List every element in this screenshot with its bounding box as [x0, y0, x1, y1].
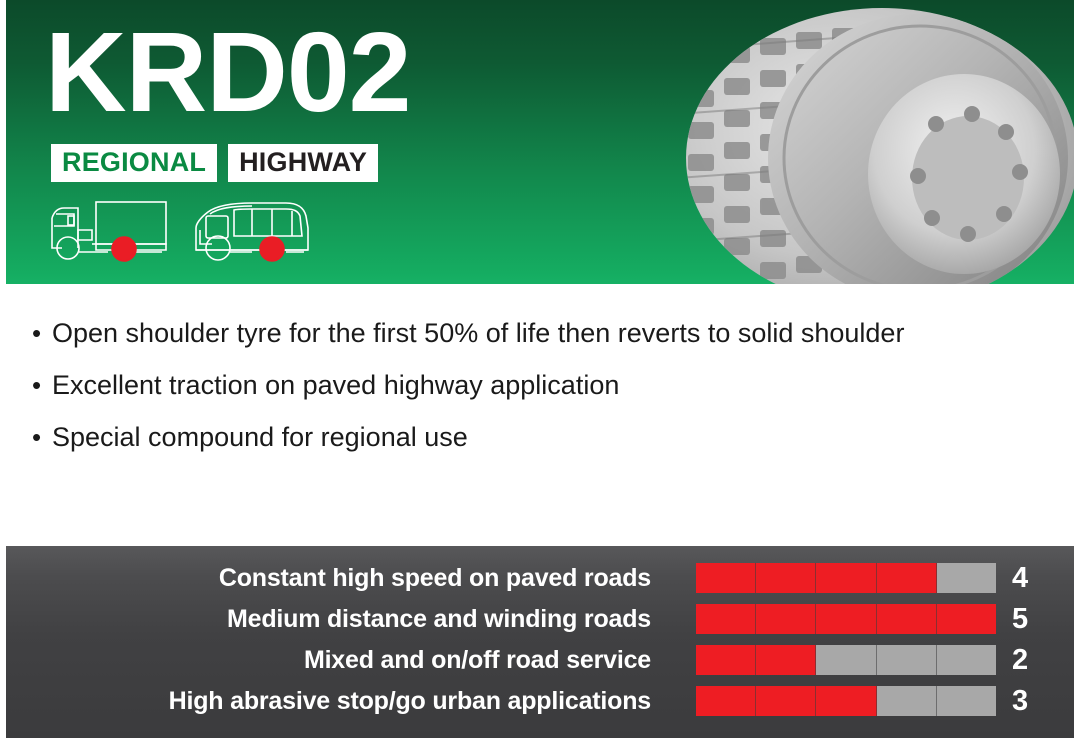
rating-value: 4	[1012, 564, 1028, 593]
bar-segment	[816, 645, 876, 675]
rating-row: Constant high speed on paved roads 4	[6, 563, 1074, 593]
rating-label: High abrasive stop/go urban applications	[6, 687, 651, 716]
product-spec-sheet: KRD 02 KRD02 REGIONAL	[0, 0, 1074, 738]
bar-segment	[937, 563, 996, 593]
rating-value: 2	[1012, 646, 1028, 675]
badge-regional: REGIONAL	[51, 144, 217, 182]
application-ratings-panel: Constant high speed on paved roads 4 Med…	[6, 546, 1074, 738]
feature-text: Special compound for regional use	[52, 422, 1074, 454]
feature-list: • Open shoulder tyre for the first 50% o…	[6, 284, 1074, 546]
bar-segment	[877, 563, 937, 593]
tire-product-photo: KRD 02	[668, 6, 1074, 284]
bar-segment	[756, 645, 816, 675]
vehicle-application-icons	[48, 200, 312, 271]
rating-label: Medium distance and winding roads	[6, 605, 651, 634]
rating-value: 3	[1012, 687, 1028, 716]
feature-item: • Excellent traction on paved highway ap…	[32, 370, 1074, 402]
bus-icon	[190, 200, 312, 271]
rating-label: Constant high speed on paved roads	[6, 564, 651, 593]
feature-item: • Special compound for regional use	[32, 422, 1074, 454]
rating-row: High abrasive stop/go urban applications…	[6, 686, 1074, 716]
rating-value: 5	[1012, 605, 1028, 634]
bar-segment	[696, 563, 756, 593]
rating-label: Mixed and on/off road service	[6, 646, 651, 675]
feature-item: • Open shoulder tyre for the first 50% o…	[32, 318, 1074, 350]
bullet-icon: •	[32, 318, 52, 349]
bar-segment	[756, 686, 816, 716]
bullet-icon: •	[32, 370, 52, 401]
bar-segment	[877, 686, 937, 716]
rating-bar	[696, 686, 996, 716]
bullet-icon: •	[32, 422, 52, 453]
bar-segment	[877, 645, 937, 675]
product-title: KRD02	[45, 16, 411, 129]
bar-segment	[756, 563, 816, 593]
badge-highway: HIGHWAY	[228, 144, 378, 182]
bar-segment	[816, 604, 876, 634]
rating-row: Mixed and on/off road service 2	[6, 645, 1074, 675]
header-banner: KRD 02 KRD02 REGIONAL	[6, 0, 1074, 284]
rating-bar	[696, 604, 996, 634]
bar-segment	[696, 645, 756, 675]
bar-segment	[937, 686, 996, 716]
rating-bar	[696, 563, 996, 593]
bar-segment	[877, 604, 937, 634]
bar-segment	[937, 645, 996, 675]
rating-bar	[696, 645, 996, 675]
feature-text: Open shoulder tyre for the first 50% of …	[52, 318, 1074, 350]
feature-text: Excellent traction on paved highway appl…	[52, 370, 1074, 402]
bar-segment	[696, 686, 756, 716]
bar-segment	[696, 604, 756, 634]
bar-segment	[816, 686, 876, 716]
rating-row: Medium distance and winding roads 5	[6, 604, 1074, 634]
bar-segment	[816, 563, 876, 593]
truck-icon	[48, 200, 176, 271]
bar-segment	[756, 604, 816, 634]
bar-segment	[937, 604, 996, 634]
category-badges: REGIONAL HIGHWAY	[51, 144, 378, 182]
